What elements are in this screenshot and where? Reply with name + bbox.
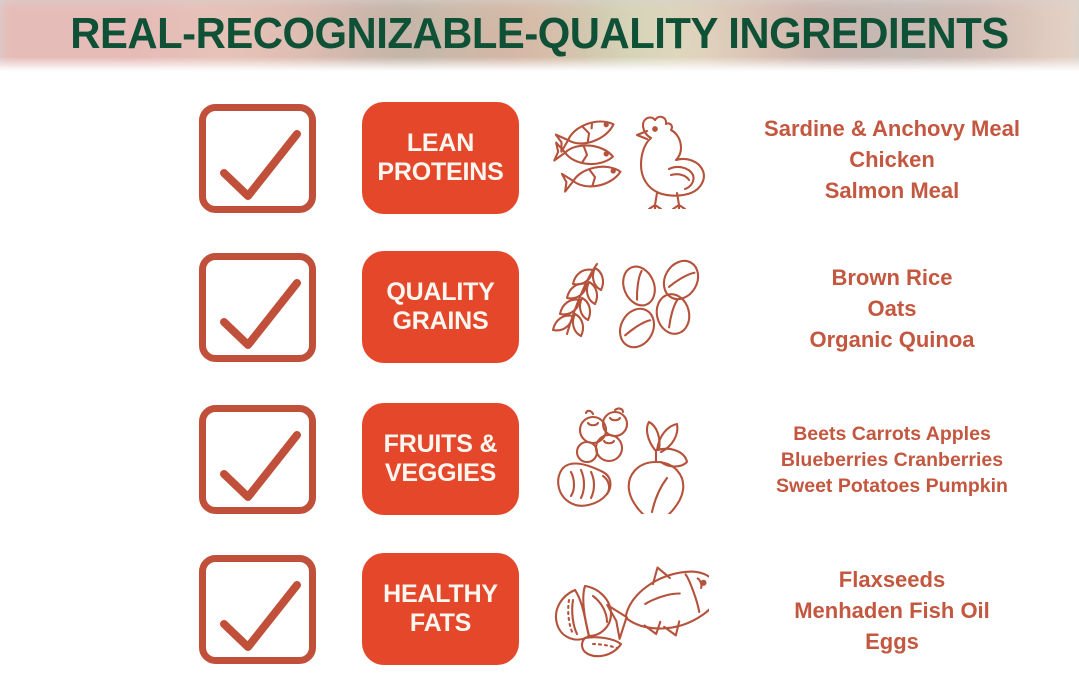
fish-and-chicken-icon: [548, 98, 710, 220]
checkbox-checked[interactable]: [198, 252, 317, 363]
wheat-and-grains-icon: [548, 247, 710, 369]
category-pill[interactable]: FRUITS & VEGGIES: [362, 403, 519, 515]
ingredient-list: Flaxseeds Menhaden Fish Oil Eggs: [712, 535, 1072, 682]
ingredient-line: Blueberries Cranberries: [781, 447, 1003, 473]
ingredient-list: Beets Carrots Apples Blueberries Cranber…: [712, 385, 1072, 535]
seeds-and-fish-icon: [548, 549, 710, 671]
category-pill-label: FRUITS & VEGGIES: [384, 430, 498, 488]
checkbox-checked[interactable]: [198, 554, 317, 665]
ingredient-list: Brown Rice Oats Organic Quinoa: [712, 233, 1072, 383]
ingredient-row: HEALTHY FATS: [0, 535, 1079, 682]
ingredient-line: Sweet Potatoes Pumpkin: [776, 473, 1008, 499]
ingredient-line: Chicken: [849, 144, 935, 175]
category-pill-label: QUALITY GRAINS: [386, 278, 494, 336]
header-banner: REAL-RECOGNIZABLE-QUALITY INGREDIENTS: [0, 0, 1079, 73]
ingredient-line: Organic Quinoa: [809, 324, 974, 355]
infographic-page: REAL-RECOGNIZABLE-QUALITY INGREDIENTS LE…: [0, 0, 1079, 682]
ingredient-line: Oats: [868, 293, 917, 324]
ingredient-row: QUALITY GRAINS: [0, 233, 1079, 383]
ingredient-line: Beets Carrots Apples: [793, 421, 991, 447]
checkbox-checked[interactable]: [198, 404, 317, 515]
ingredient-line: Menhaden Fish Oil: [794, 595, 990, 626]
category-pill[interactable]: QUALITY GRAINS: [362, 251, 519, 363]
ingredient-row: FRUITS & VEGGIES: [0, 385, 1079, 535]
ingredient-line: Eggs: [865, 626, 919, 657]
category-pill[interactable]: LEAN PROTEINS: [362, 102, 519, 214]
ingredient-line: Brown Rice: [831, 262, 952, 293]
checkbox-checked[interactable]: [198, 103, 317, 214]
ingredient-line: Sardine & Anchovy Meal: [764, 113, 1020, 144]
ingredient-list: Sardine & Anchovy Meal Chicken Salmon Me…: [712, 84, 1072, 234]
category-pill-label: HEALTHY FATS: [383, 580, 498, 638]
category-pill-label: LEAN PROTEINS: [377, 129, 503, 187]
page-title: REAL-RECOGNIZABLE-QUALITY INGREDIENTS: [27, 7, 1052, 61]
ingredient-line: Flaxseeds: [839, 564, 945, 595]
berries-sweet-potato-beet-icon: [548, 399, 710, 521]
ingredient-line: Salmon Meal: [825, 175, 959, 206]
ingredient-row: LEAN PROTEINS: [0, 84, 1079, 234]
category-pill[interactable]: HEALTHY FATS: [362, 553, 519, 665]
